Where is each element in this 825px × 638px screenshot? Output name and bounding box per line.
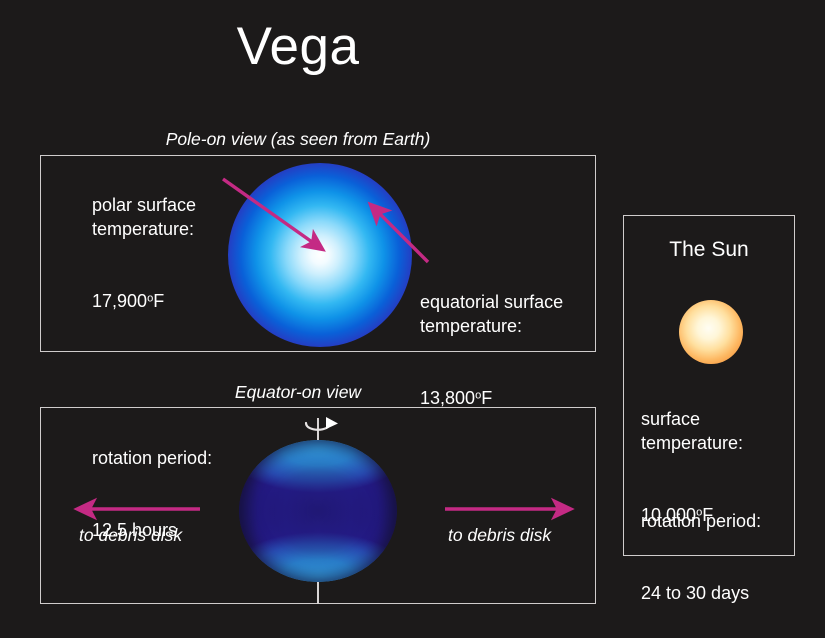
equator-band-shading xyxy=(239,440,397,582)
vega-pole-on-star-illustration xyxy=(228,163,412,347)
sun-rotation-value: 24 to 30 days xyxy=(641,583,749,603)
sun-rotation-callout: rotation period: 24 to 30 days xyxy=(641,486,761,606)
vega-equator-on-star-illustration xyxy=(239,440,397,582)
sun-panel-heading: The Sun xyxy=(623,238,795,262)
rotation-direction-icon xyxy=(300,415,344,441)
debris-disk-label-right: to debris disk xyxy=(448,525,551,546)
polar-temperature-label: polar surface temperature: xyxy=(92,195,196,239)
limb-darkening-shading xyxy=(239,440,397,582)
polar-temperature-callout: polar surface temperature: 17,900oF xyxy=(92,170,196,314)
page-title: Vega xyxy=(0,18,596,76)
pole-on-view-caption: Pole-on view (as seen from Earth) xyxy=(0,129,596,150)
sun-rotation-label: rotation period: xyxy=(641,511,761,531)
sun-star-illustration xyxy=(679,300,743,364)
equatorial-temperature-label: equatorial surface temperature: xyxy=(420,292,563,336)
debris-disk-label-left: to debris disk xyxy=(79,525,182,546)
sun-temperature-label: surface temperature: xyxy=(641,409,743,453)
rotation-period-label: rotation period: xyxy=(92,448,212,468)
polar-temperature-unit: F xyxy=(153,291,164,311)
polar-temperature-value: 17,900 xyxy=(92,291,147,311)
equator-on-view-caption: Equator-on view xyxy=(0,382,596,403)
infographic-vega: Vega Pole-on view (as seen from Earth) p… xyxy=(0,0,825,638)
